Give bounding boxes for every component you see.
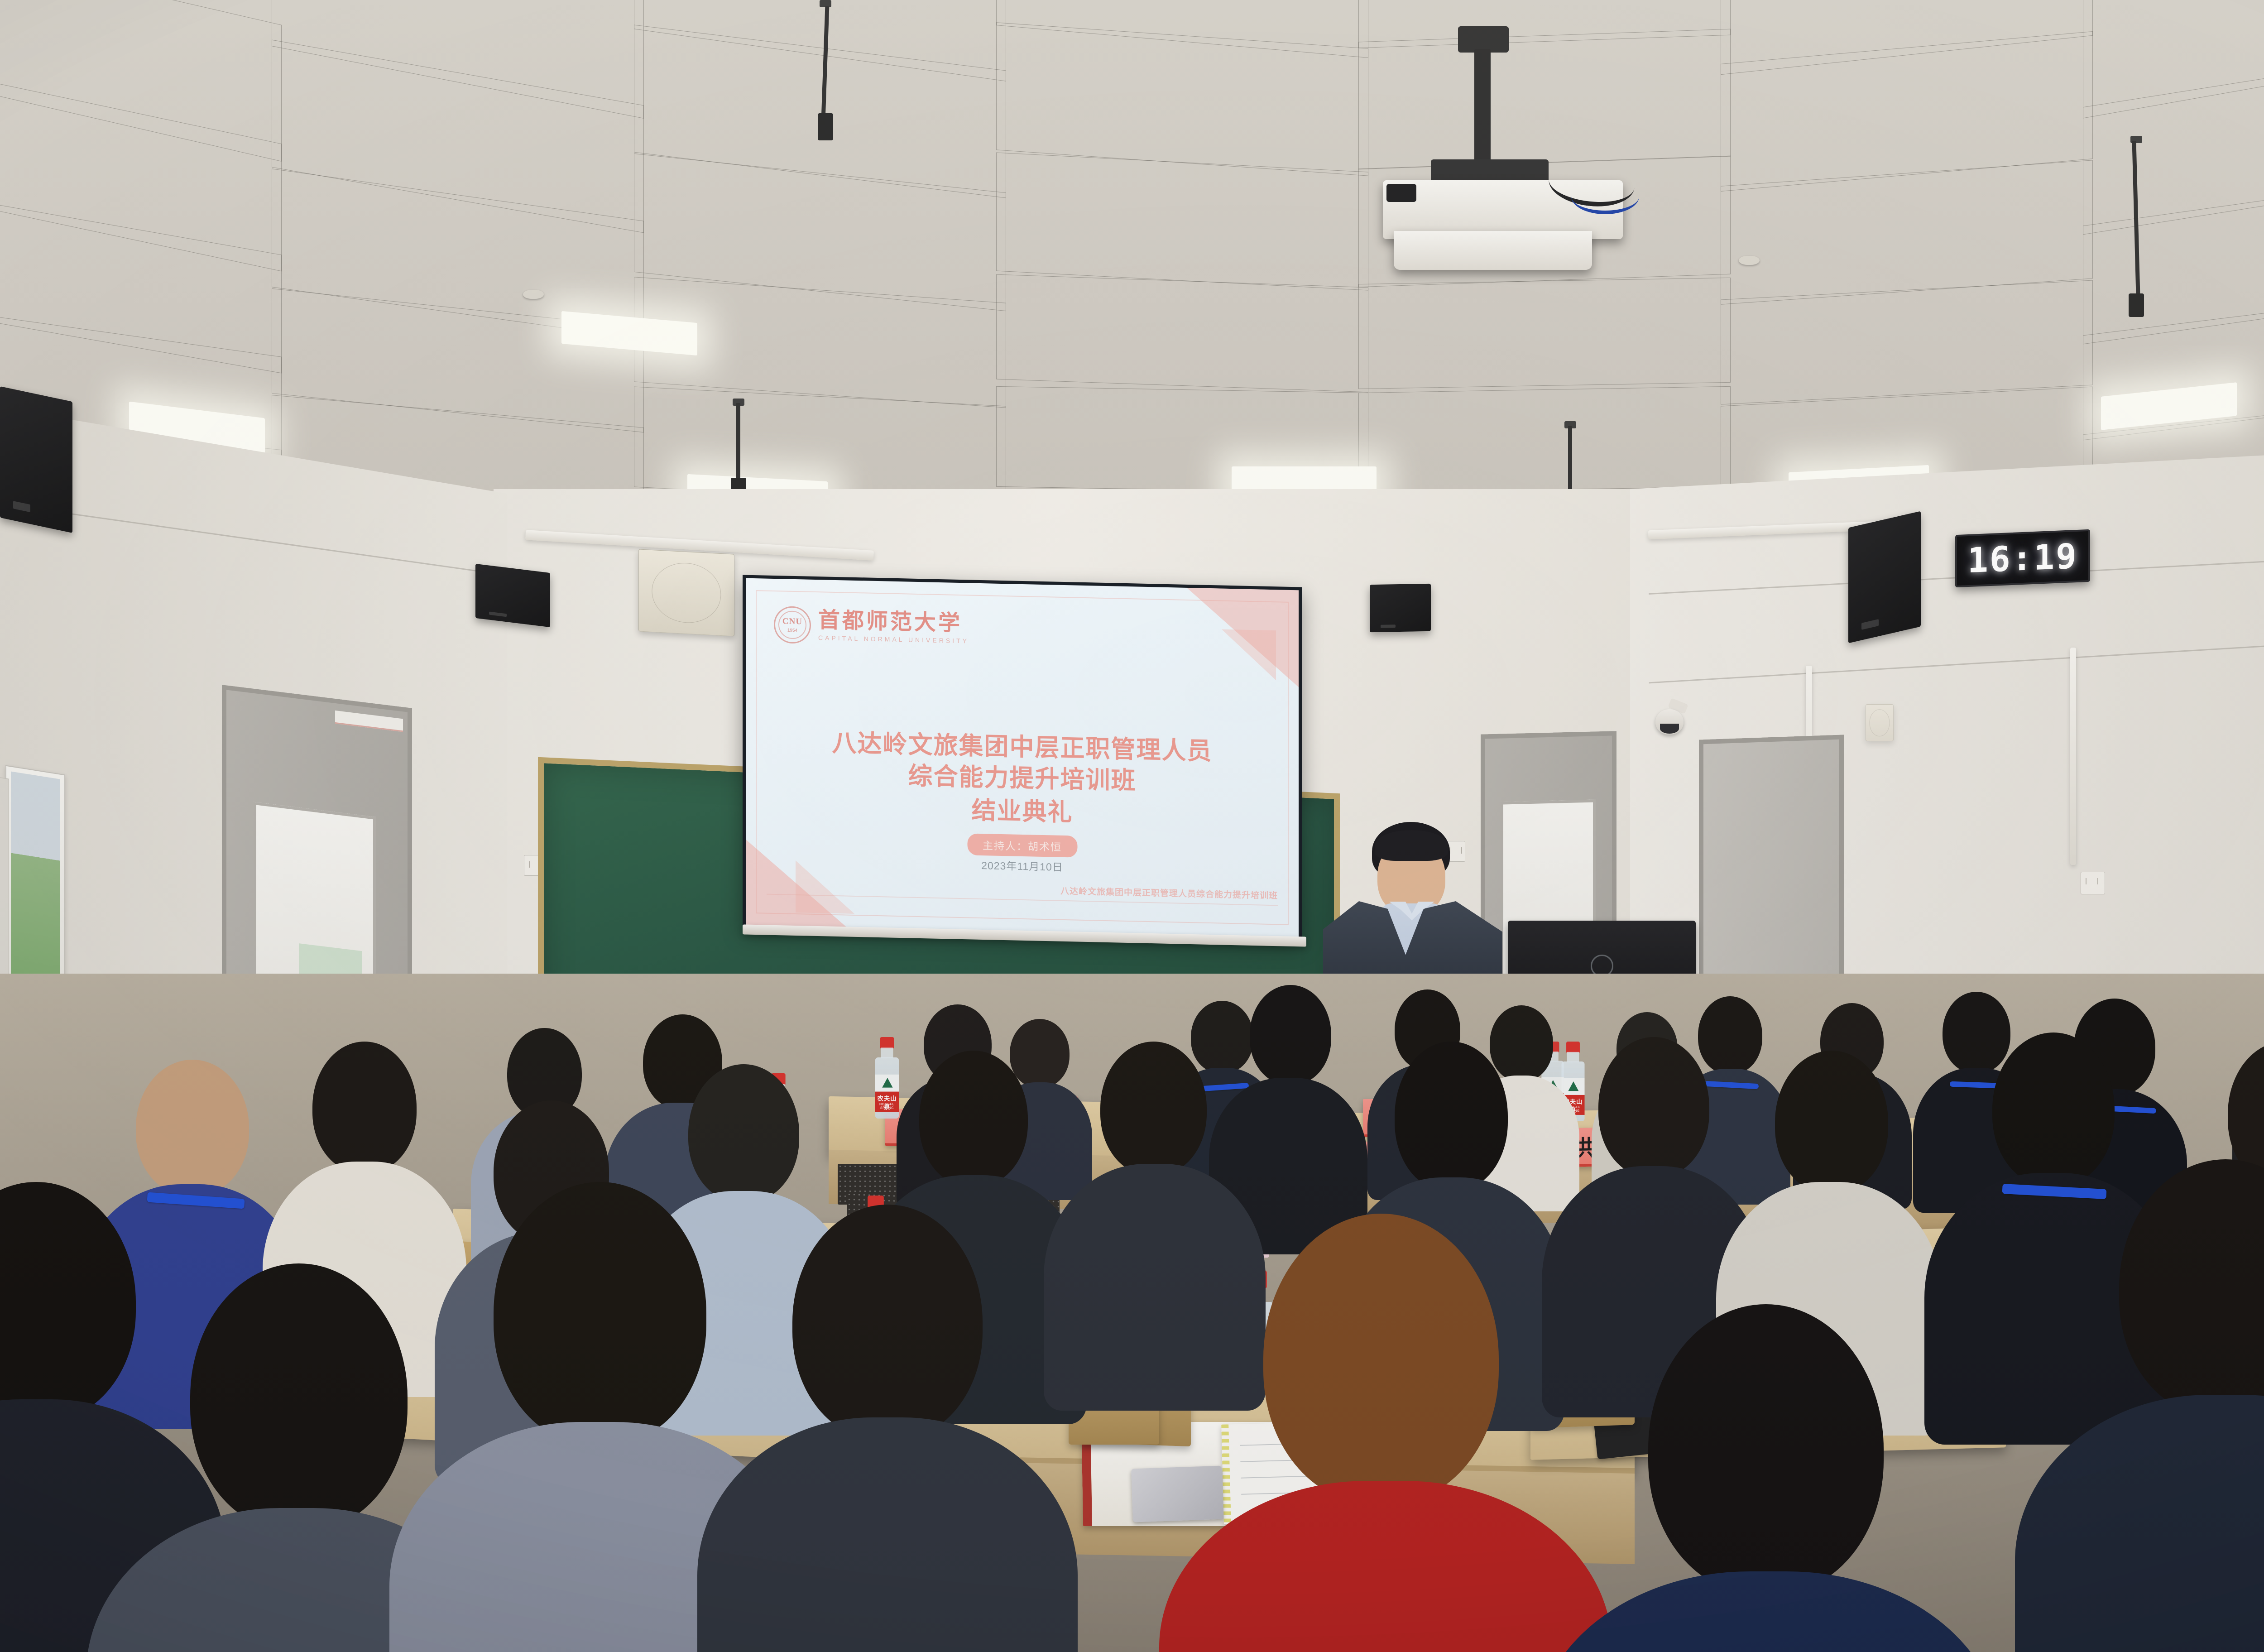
air-conditioner-vent xyxy=(1866,704,1894,741)
projector-drop-pole xyxy=(1474,49,1491,164)
door-top-plate xyxy=(335,711,403,732)
slide-date: 2023年11月10日 xyxy=(981,857,1063,874)
university-name-cn: 首都师范大学 xyxy=(818,610,969,634)
bottle-neck xyxy=(881,1047,893,1058)
wall-notice-strip xyxy=(0,774,9,984)
person-head xyxy=(1191,1001,1253,1073)
person-head xyxy=(1263,1214,1499,1503)
projected-slide: CNU 1954 首都师范大学 CAPITAL NORMAL UNIVERSIT… xyxy=(746,578,1299,937)
university-name-block: 首都师范大学 CAPITAL NORMAL UNIVERSITY xyxy=(818,610,969,644)
person-head xyxy=(136,1060,249,1196)
person-head xyxy=(1395,1042,1508,1191)
wall-speaker xyxy=(475,564,550,627)
person-head xyxy=(1598,1037,1709,1177)
ceiling-rod-fixture xyxy=(2129,293,2144,317)
wall-digital-clock: 16:19 xyxy=(1955,529,2090,587)
person-head xyxy=(1648,1304,1884,1594)
ceiling-rod-fixture xyxy=(818,113,833,140)
bottle-cap xyxy=(880,1037,894,1048)
smoke-detector xyxy=(1739,256,1760,265)
smartphone[interactable] xyxy=(1131,1466,1223,1522)
bottle-brand-en: NONGFU SPRING xyxy=(875,1102,899,1109)
person-head xyxy=(1250,985,1331,1085)
person-head xyxy=(688,1064,799,1202)
wall-speaker xyxy=(0,386,72,533)
person-head xyxy=(494,1182,706,1445)
wall-conduit xyxy=(2070,648,2076,865)
person-head xyxy=(1698,996,1762,1074)
person-head xyxy=(1100,1042,1207,1175)
bottle-mountain-icon xyxy=(1568,1081,1578,1091)
light-switch[interactable] xyxy=(2081,872,2105,894)
bottle-label-brand: 农夫山泉 NONGFU SPRING xyxy=(875,1092,899,1112)
ceiling-rod xyxy=(736,403,740,482)
person-torso xyxy=(1044,1164,1266,1411)
presenter-hair-front xyxy=(1375,830,1448,861)
university-logo: CNU 1954 首都师范大学 CAPITAL NORMAL UNIVERSIT… xyxy=(774,606,969,647)
person-head xyxy=(792,1205,983,1440)
wall-poster-frame xyxy=(5,765,65,989)
person-head xyxy=(1490,1005,1553,1081)
slide-title-line1: 八达岭文旅集团中层正职管理人员 xyxy=(832,730,1213,765)
classroom-photo-scene: 16:19 CNU xyxy=(0,0,2264,1652)
camera-dome xyxy=(1655,709,1684,735)
bottle-mountain-icon xyxy=(882,1078,892,1088)
person-head xyxy=(919,1051,1028,1186)
clock-time-display: 16:19 xyxy=(1967,539,2078,578)
seal-initials: CNU xyxy=(782,616,802,627)
university-name-en: CAPITAL NORMAL UNIVERSITY xyxy=(818,634,969,644)
air-conditioner-vent xyxy=(638,549,734,636)
smoke-detector xyxy=(523,290,544,299)
slide-content-area: CNU 1954 首都师范大学 CAPITAL NORMAL UNIVERSIT… xyxy=(756,590,1289,925)
bottle-cap xyxy=(1566,1042,1580,1053)
slide-title: 八达岭文旅集团中层正职管理人员 综合能力提升培训班 结业典礼 xyxy=(756,726,1289,833)
projection-screen: CNU 1954 首都师范大学 CAPITAL NORMAL UNIVERSIT… xyxy=(743,575,1302,941)
seal-year: 1954 xyxy=(787,628,797,633)
person-head xyxy=(1010,1019,1070,1088)
bottle-neck xyxy=(1567,1052,1579,1062)
projector-lens xyxy=(1386,184,1416,202)
person-head xyxy=(190,1263,408,1531)
projector-lower-shell xyxy=(1394,231,1592,270)
wall-speaker xyxy=(1370,584,1431,632)
slide-title-line2: 综合能力提升培训班 xyxy=(908,763,1137,795)
person-head xyxy=(1775,1051,1888,1193)
wall-speaker xyxy=(1848,511,1921,644)
dome-surveillance-camera xyxy=(1655,703,1684,731)
person-head xyxy=(1943,992,2010,1073)
university-seal-icon: CNU 1954 xyxy=(774,606,811,644)
slide-host-badge: 主持人：胡术恒 xyxy=(967,833,1077,857)
projector-cable xyxy=(1571,179,1639,214)
person-head xyxy=(1992,1032,2115,1186)
poster-image xyxy=(11,771,60,983)
person-head xyxy=(312,1042,417,1173)
